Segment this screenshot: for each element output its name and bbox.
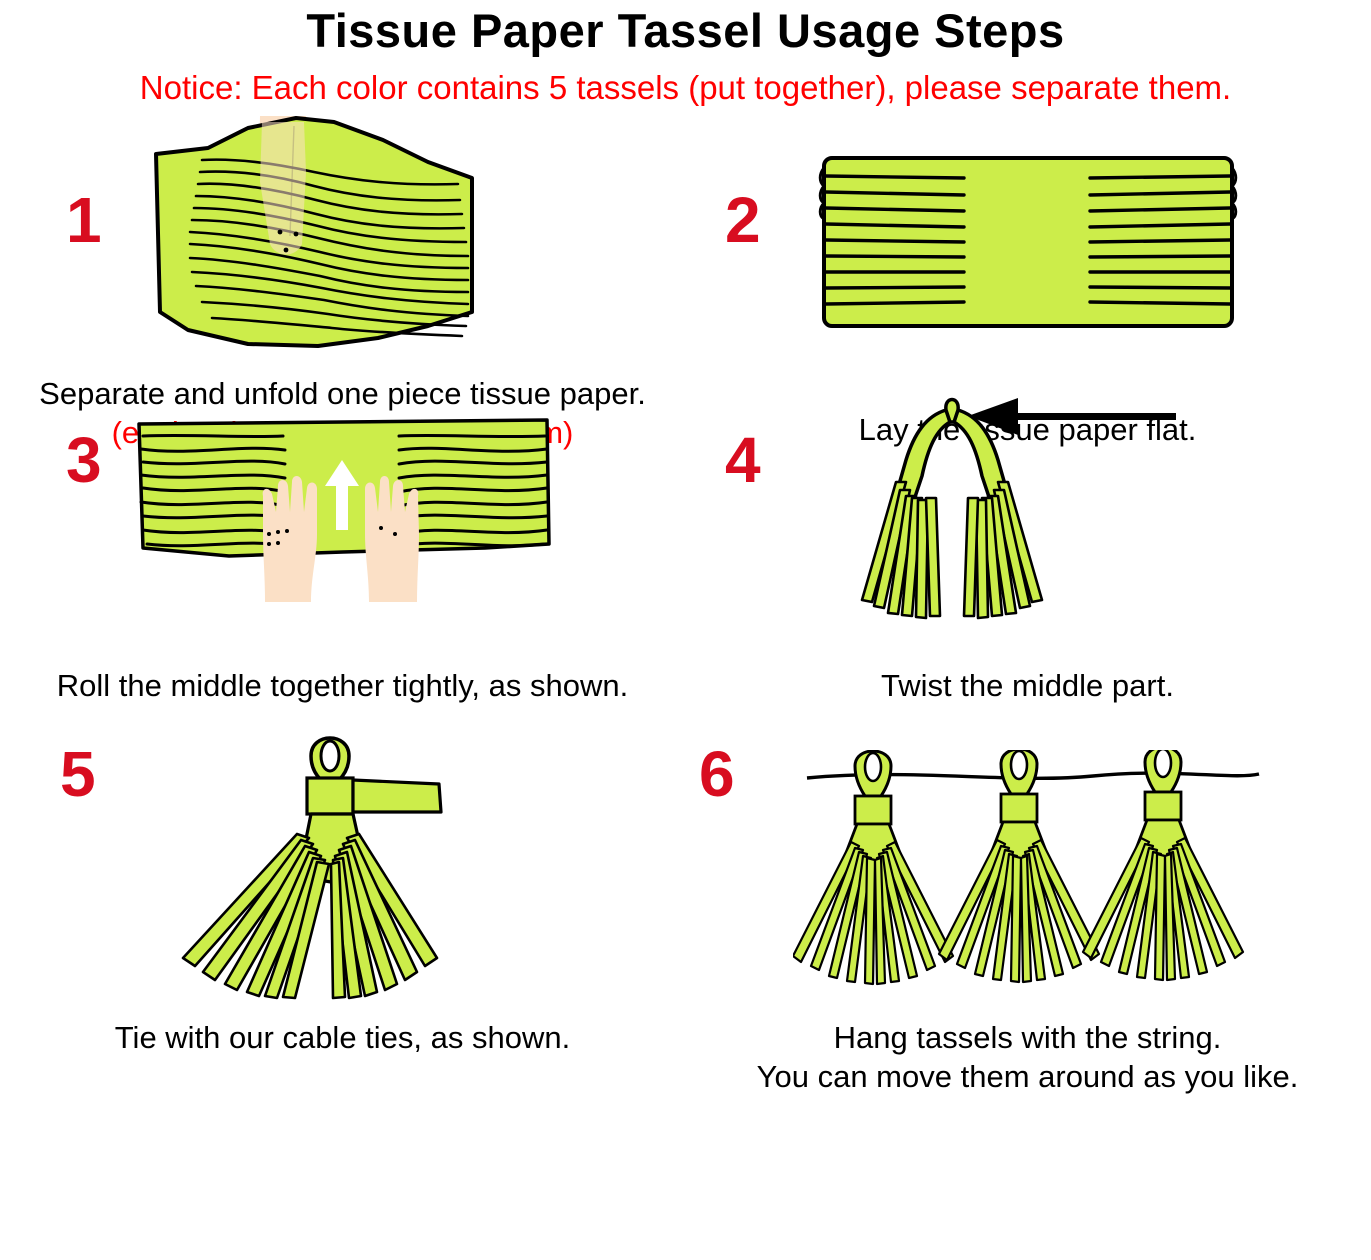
hanging-tassel <box>1083 750 1243 980</box>
steps-row-1: 1 <box>0 116 1371 416</box>
step-cell-5: 5 <box>0 718 685 1018</box>
three-tassels-hanging-on-string-icon <box>793 750 1263 1010</box>
pointer-arrow-icon <box>968 398 1176 435</box>
step-5-illustration <box>0 718 685 1008</box>
step-6-illustration <box>685 750 1370 1010</box>
step-4-illustration <box>685 386 1370 646</box>
step-cell-3: 3 <box>0 416 685 666</box>
step-3-illustration <box>0 416 685 631</box>
two-hands-rolling-middle-with-up-arrow-icon <box>133 416 553 631</box>
step-6-caption: Hang tassels with the string. <box>685 1020 1370 1057</box>
page-title: Tissue Paper Tassel Usage Steps <box>0 6 1371 55</box>
step-3-caption-cell: Roll the middle together tightly, as sho… <box>0 666 685 718</box>
cable-tie-icon <box>307 778 441 814</box>
flat-fringed-tissue-paper-sheet-icon <box>818 152 1238 337</box>
hanging-tassel <box>793 751 953 984</box>
step-5-caption: Tie with our cable ties, as shown. <box>0 1020 685 1057</box>
steps-grid: 1 <box>0 116 1371 1095</box>
steps-row-3-captions: Tie with our cable ties, as shown. Hang … <box>0 1018 1371 1095</box>
hand-separating-fringed-tissue-paper-icon <box>128 116 558 371</box>
step-3-caption: Roll the middle together tightly, as sho… <box>0 668 685 705</box>
step-6-caption-cell: Hang tassels with the string. You can mo… <box>685 1018 1370 1095</box>
step-2-illustration <box>685 152 1370 410</box>
step-4-caption: Twist the middle part. <box>685 668 1370 705</box>
step-cell-2: 2 <box>685 116 1370 416</box>
step-6-subcaption: You can move them around as you like. <box>685 1059 1370 1096</box>
hanging-tassel <box>939 750 1099 982</box>
steps-row-3: 5 <box>0 718 1371 1018</box>
tassel-tied-with-cable-tie-icon <box>143 718 543 1008</box>
step-cell-1: 1 <box>0 116 685 416</box>
step-5-caption-cell: Tie with our cable ties, as shown. <box>0 1018 685 1095</box>
steps-row-2: 3 <box>0 416 1371 666</box>
folded-tassel-loop-with-pointer-arrow-icon <box>818 386 1238 646</box>
step-4-caption-cell: Twist the middle part. <box>685 666 1370 718</box>
steps-row-2-captions: Roll the middle together tightly, as sho… <box>0 666 1371 718</box>
notice-text: Notice: Each color contains 5 tassels (p… <box>0 71 1371 106</box>
step-1-caption: Separate and unfold one piece tissue pap… <box>0 376 685 413</box>
step-1-illustration <box>0 116 685 374</box>
step-cell-4: 4 <box>685 416 1370 666</box>
step-cell-6: 6 <box>685 718 1370 1018</box>
